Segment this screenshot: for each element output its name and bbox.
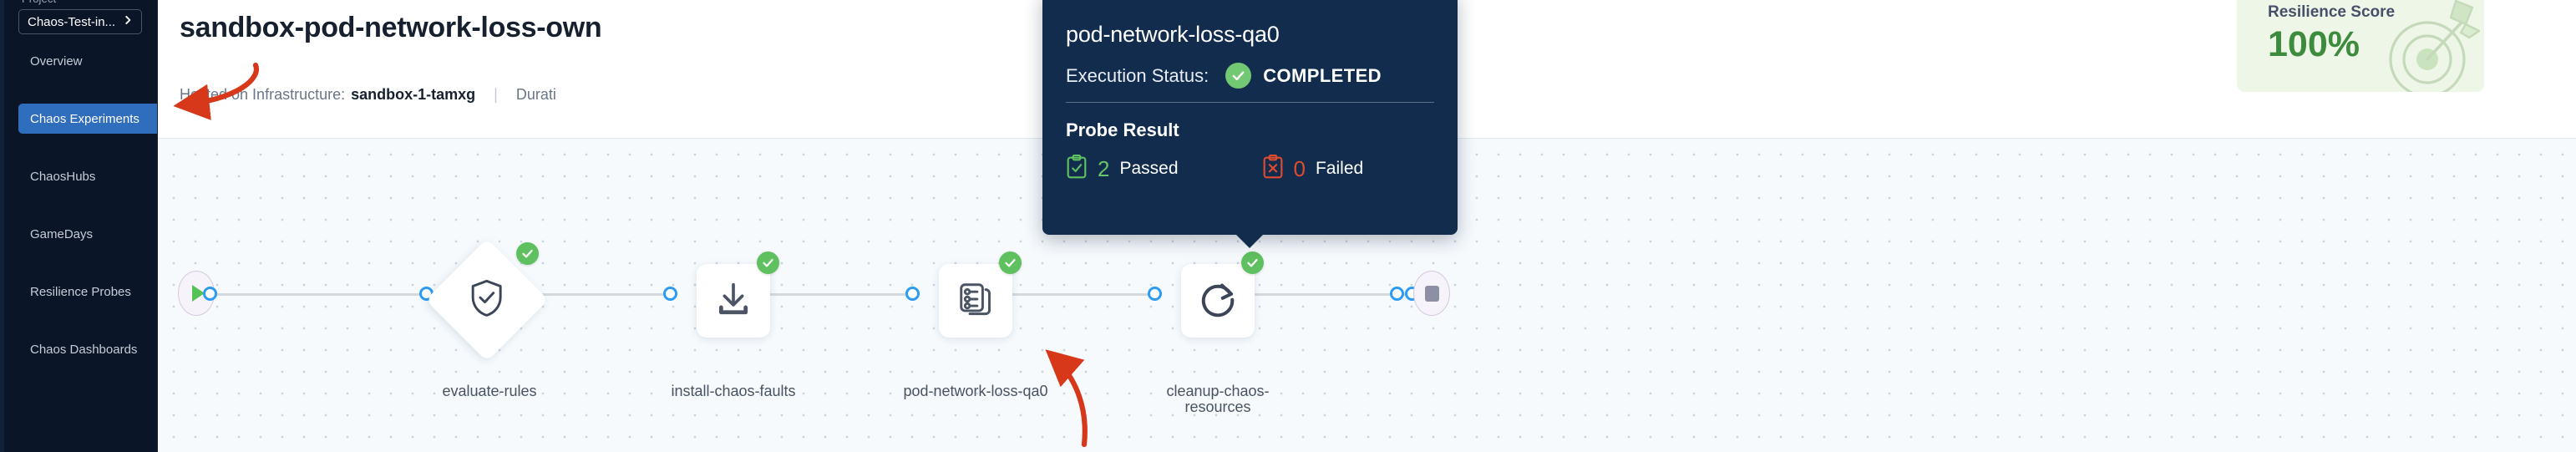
chevron-right-icon [122,14,134,30]
experiment-meta: Hosted on Infrastructure: sandbox-1-tamx… [180,86,556,104]
sidebar-item-label: Chaos Dashboards [30,343,137,357]
project-selector[interactable]: Chaos-Test-in... [18,9,142,34]
node-shape [939,264,1012,338]
refresh-icon [1199,280,1237,322]
node-status-success [516,242,539,265]
sidebar-item-resilience-probes[interactable]: Resilience Probes [18,277,158,307]
pipeline-port[interactable] [1390,287,1404,301]
tooltip-execution-status: Execution Status: COMPLETED [1066,63,1434,89]
node-status-success [757,251,779,274]
sidebar-item-label: Overview [30,54,83,69]
meta-separator: | [494,86,498,104]
pipeline-port[interactable] [905,287,920,301]
probe-failed-group: 0 Failed [1262,155,1364,183]
sidebar-item-label: ChaosHubs [30,170,95,184]
node-label: evaluate-rules [410,383,569,399]
probe-failed-label: Failed [1316,159,1363,179]
sidebar-item-overview[interactable]: Overview [18,46,158,76]
pipeline-end-node[interactable] [1413,271,1450,316]
probe-result-title: Probe Result [1066,119,1434,141]
node-shape [1181,264,1255,338]
sidebar-item-label: GameDays [30,227,93,241]
clipboard-x-icon [1262,155,1284,183]
target-dart-icon [2376,0,2482,92]
pipeline-port[interactable] [203,287,217,301]
project-selector-value: Chaos-Test-in... [28,15,115,29]
sidebar-item-gamedays[interactable]: GameDays [18,219,158,249]
probe-passed-label: Passed [1119,159,1178,179]
sidebar: Project Chaos-Test-in... Overview Chaos … [0,0,158,452]
sidebar-item-chaoshubs[interactable]: ChaosHubs [18,161,158,191]
execution-status-label: Execution Status: [1066,65,1209,87]
shield-check-icon [469,278,505,322]
pipeline-edge [209,293,426,296]
probe-result-row: 2 Passed 0 Failed [1066,155,1434,183]
node-tooltip: pod-network-loss-qa0 Execution Status: C… [1042,0,1458,235]
node-label: install-chaos-faults [654,383,813,399]
node-status-success [999,251,1022,274]
sidebar-rail [0,0,4,452]
clipboard-check-icon [1066,155,1088,183]
node-label: cleanup-chaos-resources [1138,383,1297,415]
probe-passed-group: 2 Passed [1066,155,1179,183]
resilience-score-card: Resilience Score 100% [2237,0,2484,92]
tooltip-pointer [1235,234,1264,248]
resilience-score-value: 100% [2268,24,2360,65]
node-label: pod-network-loss-qa0 [896,383,1055,399]
pipeline-port[interactable] [1148,287,1162,301]
chaos-fault-icon [957,281,994,322]
sidebar-item-label: Chaos Experiments [30,112,139,126]
node-status-success [1241,251,1264,274]
duration-label: Durati [516,86,556,104]
infrastructure-value: sandbox-1-tamxg [351,86,475,104]
probe-passed-count: 2 [1098,156,1109,182]
node-shape [697,264,770,338]
project-label: Project [22,0,56,5]
sidebar-item-chaos-dashboards[interactable]: Chaos Dashboards [18,334,158,364]
page-title: sandbox-pod-network-loss-own [180,12,601,44]
download-icon [715,281,752,322]
pipeline-port[interactable] [663,287,677,301]
infrastructure-label: Hosted on Infrastructure: [180,86,345,104]
tooltip-divider [1066,102,1434,103]
stop-icon [1425,286,1439,302]
sidebar-item-label: Resilience Probes [30,285,131,299]
tooltip-title: pod-network-loss-qa0 [1066,22,1434,48]
execution-status-value: COMPLETED [1263,65,1382,87]
main-content: sandbox-pod-network-loss-own COMPLETED H… [158,0,2576,452]
check-circle-icon [1225,63,1251,89]
sidebar-item-chaos-experiments[interactable]: Chaos Experiments [18,104,158,134]
probe-failed-count: 0 [1294,156,1306,182]
